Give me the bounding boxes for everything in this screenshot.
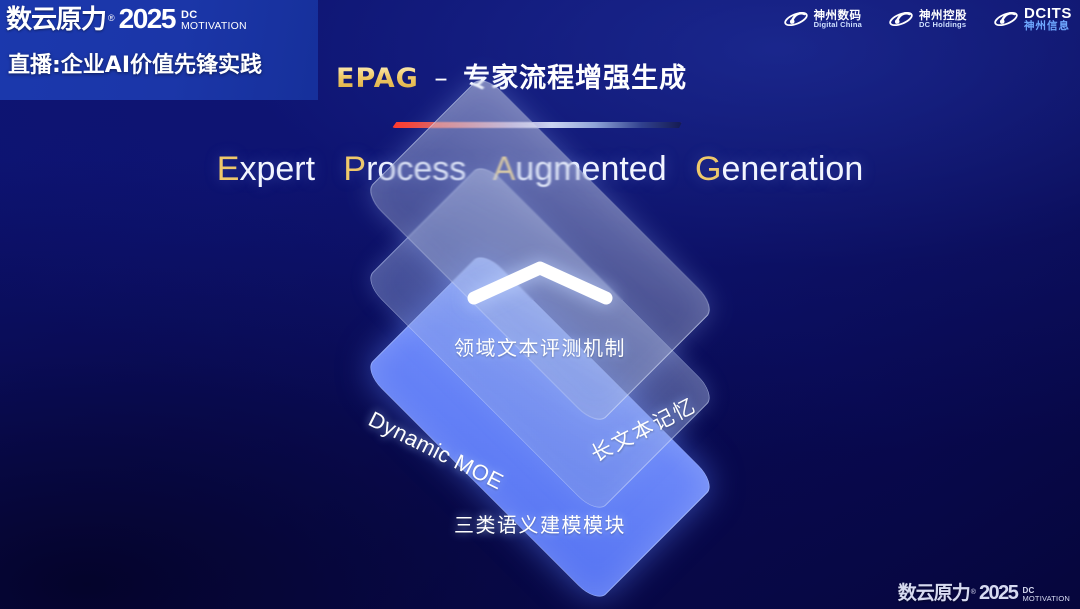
isometric-layer-stack: 领域文本评测机制 Dynamic MOE 长文本记忆 三类语义建模模块 [0,0,1080,609]
watermark-year: 2025 [979,584,1018,603]
watermark-name-cn: 数云原力 [898,584,970,603]
footer-watermark-logo: 数云原力 ® 2025 DC MOTIVATION [898,584,1070,603]
watermark-motivation-text: MOTIVATION [1022,595,1070,603]
layer-bottom-label: 三类语义建模模块 [0,509,1080,538]
watermark-registered-mark: ® [971,589,976,596]
chevron-up-icon [464,258,616,306]
slide-canvas: 数云原力 ® 2025 DC MOTIVATION 直播:企业AI价值先锋实践 … [0,0,1080,609]
layer-top-label: 领域文本评测机制 [0,332,1080,361]
watermark-dc-motivation: DC MOTIVATION [1022,587,1070,604]
